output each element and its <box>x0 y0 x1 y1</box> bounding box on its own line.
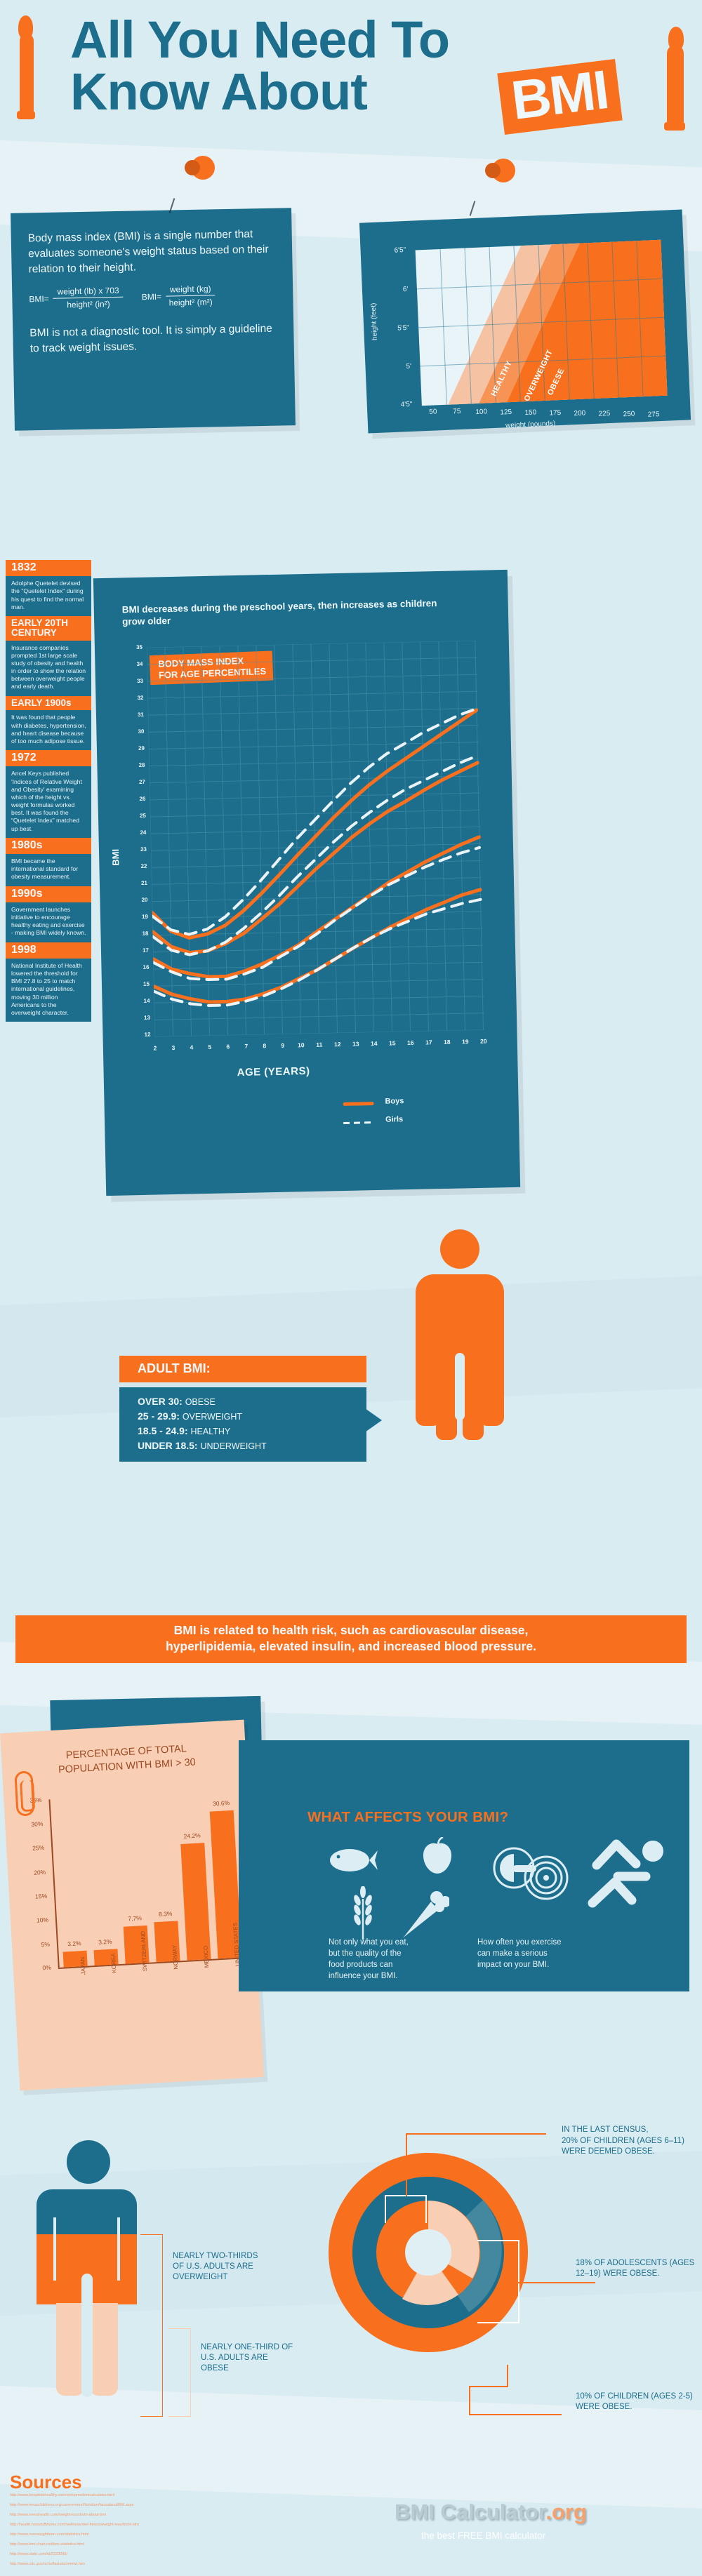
what-affects-title: WHAT AFFECTS YOUR BMI? <box>307 1809 508 1826</box>
adult-chart-xtick-0: 50 <box>429 408 437 415</box>
adult-chart-xtick-6: 200 <box>574 410 585 418</box>
source-link-1[interactable]: http://www.texaschildrens.org/carecenter… <box>10 2502 134 2508</box>
what-affects-text-exercise: How often you exercise can make a seriou… <box>477 1937 567 1970</box>
bar-ytick-10: 10% <box>30 1916 49 1924</box>
timeline-text-4: BMI became the international standard fo… <box>6 854 91 886</box>
percentile-xtick-11: 11 <box>314 1041 324 1048</box>
percentile-ytick-31: 31 <box>131 712 144 718</box>
infographic-page: All You Need To Know About BMI Body mass… <box>0 0 702 2576</box>
leader-adolescents-v <box>518 2240 519 2323</box>
figure-arm-gap-left <box>53 2217 56 2281</box>
formula-imperial-denominator: height² (in²) <box>53 298 124 310</box>
adult-chart-ytick-3: 5' <box>406 363 411 371</box>
figure-arm-gap-right <box>117 2217 120 2281</box>
formula-imperial-numerator: weight (lb) x 703 <box>53 286 123 299</box>
leader-children-6-11-v <box>385 2195 386 2223</box>
percentile-plot-svg <box>147 641 485 1037</box>
adult-chart-xlabel: weight (pounds) <box>505 420 556 429</box>
timeline-text-1: Insurance companies prompted 1st large s… <box>6 641 91 696</box>
leader-children-6-11-v2 <box>425 2195 427 2223</box>
percentile-chart-card: BMI decreases during the preschool years… <box>93 570 520 1196</box>
timeline-year-2: EARLY 1900s <box>6 696 91 711</box>
adult-bmi-chart-card: ADULT BMI CHART HEALTHY OVERWEIGHT <box>359 210 691 434</box>
bar-value-mexico: 24.2% <box>177 1831 206 1840</box>
percentile-ytick-19: 19 <box>135 914 148 920</box>
bar-cat-korea: KOREA <box>110 1953 118 1973</box>
formula-metric: BMI= weight (kg) height² (m²) <box>141 283 216 308</box>
percentile-ytick-33: 33 <box>131 678 143 684</box>
leader-adolescents-h2 <box>477 2322 519 2323</box>
adult-chart-ytick-0: 6'5" <box>394 246 406 255</box>
silhouette-left-body <box>20 34 34 116</box>
percentile-xtick-6: 6 <box>223 1043 233 1050</box>
adult-chart-xtick-4: 150 <box>524 408 536 417</box>
timeline-year-5: 1990s <box>6 886 91 902</box>
bar-ytick-15: 15% <box>29 1893 48 1900</box>
percentile-xtick-19: 19 <box>461 1038 470 1045</box>
source-link-6[interactable]: http://www.slate.com/id/2223095/ <box>10 2551 67 2557</box>
adult-chart-ytick-4: 4'5" <box>401 401 413 409</box>
silhouette-left-feet <box>17 111 35 119</box>
leader-children-2-5-v <box>469 2386 470 2414</box>
bar-chart-title: PERCENTAGE OF TOTAL POPULATION WITH BMI … <box>42 1741 212 1777</box>
sources-heading: Sources <box>10 2471 82 2493</box>
bar-value-korea: 3.2% <box>91 1937 120 1946</box>
percentile-xtick-18: 18 <box>442 1039 452 1046</box>
formula-metric-numerator: weight (kg) <box>166 283 216 296</box>
formula-imperial-fraction: weight (lb) x 703 height² (in²) <box>53 286 124 310</box>
legend-boys-label: Boys <box>385 1097 404 1106</box>
dumbbell-icon <box>491 1838 569 1906</box>
adult-chart-xtick-8: 250 <box>623 411 635 419</box>
bar-ytick-20: 20% <box>27 1869 46 1876</box>
what-affects-text-diet: Not only what you eat, but the quality o… <box>329 1937 418 1982</box>
figure-arm-left <box>37 2234 52 2281</box>
title-block: All You Need To Know About BMI <box>70 15 604 117</box>
figure-arm-right <box>121 2234 137 2281</box>
percentile-xtick-16: 16 <box>406 1039 416 1046</box>
percentile-xtick-15: 15 <box>388 1039 397 1046</box>
percentile-xtick-8: 8 <box>260 1042 270 1049</box>
percentile-ytick-25: 25 <box>133 813 146 819</box>
percentile-xtick-13: 13 <box>351 1040 361 1047</box>
bmi-badge: BMI <box>497 59 622 135</box>
figure-head <box>67 2140 110 2184</box>
leader-children-2-5-out <box>469 2414 562 2415</box>
timeline-item: 1998 National Institute of Health lowere… <box>6 942 91 1022</box>
percentile-ytick-35: 35 <box>130 644 143 650</box>
percentile-ytick-24: 24 <box>133 829 146 836</box>
wheat-icon <box>351 1886 375 1940</box>
adult-chart-xtick-2: 100 <box>475 408 487 416</box>
adult-bmi-row: 25 - 29.9: OVERWEIGHT <box>138 1409 358 1424</box>
bracket-overweight <box>140 2234 163 2417</box>
apple-icon <box>418 1837 457 1876</box>
adult-bmi-range-3: UNDER 18.5: <box>138 1440 198 1451</box>
intro-paragraph-2: BMI is not a diagnostic tool. It is simp… <box>29 321 277 357</box>
silhouette-right-feet <box>664 122 685 131</box>
percentile-ytick-23: 23 <box>134 846 147 853</box>
adult-chart-xtick-7: 225 <box>598 410 610 418</box>
runner-icon <box>587 1833 670 1910</box>
adult-bmi-label-0: OBESE <box>185 1397 216 1407</box>
timeline-item: 1980s BMI became the international stand… <box>6 838 91 886</box>
bar-cat-mexico: MEXICO <box>202 1945 210 1968</box>
callout-pointer <box>358 1403 382 1437</box>
adult-bmi-label-3: UNDERWEIGHT <box>200 1441 266 1451</box>
timeline-year-1: EARLY 20TH CENTURY <box>6 616 91 641</box>
adult-bmi-row: OVER 30: OBESE <box>138 1394 358 1409</box>
source-link-7[interactable]: http://www.cdc.gov/nchs/fastats/overwt.h… <box>10 2561 85 2567</box>
timeline-text-5: Government launches initiative to encour… <box>6 902 91 942</box>
bar-ytick-25: 25% <box>26 1844 45 1852</box>
percentile-ytick-14: 14 <box>137 998 150 1004</box>
percentile-xtick-12: 12 <box>333 1041 343 1048</box>
timeline-year-4: 1980s <box>6 838 91 854</box>
formula-row: BMI= weight (lb) x 703 height² (in²) BMI… <box>29 283 277 311</box>
percentile-plot <box>147 641 485 1037</box>
pin-icon-left <box>191 156 215 180</box>
bar-mexico <box>180 1843 211 1961</box>
bar-cat-japan: JAPAN <box>79 1957 86 1975</box>
bracket-obese <box>168 2328 191 2417</box>
percentile-ytick-30: 30 <box>131 728 144 735</box>
bar-chart-yaxis <box>48 1799 59 1968</box>
adult-chart-xtick-5: 175 <box>549 409 561 418</box>
percentile-ytick-16: 16 <box>136 964 149 970</box>
bar-ytick-0: 0% <box>33 1964 52 1972</box>
timeline-item: 1972 Ancel Keys published 'Indices of Re… <box>6 750 91 838</box>
adult-chart-xtick-3: 125 <box>500 408 512 417</box>
formula-imperial-label: BMI= <box>29 293 49 304</box>
percentile-xtick-2: 2 <box>150 1044 160 1051</box>
leader-children-2-5-v2 <box>507 2365 508 2387</box>
source-link-4[interactable]: http://www.overweightteen.com/statistics… <box>10 2532 89 2537</box>
adult-bmi-heading: ADULT BMI: <box>119 1356 366 1382</box>
adult-chart-ylabel: height (feet) <box>370 302 379 340</box>
percentile-ytick-32: 32 <box>131 695 143 701</box>
adult-bmi-row: UNDER 18.5: UNDERWEIGHT <box>138 1439 358 1453</box>
formula-metric-fraction: weight (kg) height² (m²) <box>166 283 216 307</box>
percentile-headline: BMI decreases during the preschool years… <box>122 598 439 628</box>
timeline: 1832 Adolphe Quetelet devised the "Quete… <box>6 560 91 1022</box>
timeline-item: 1990s Government launches initiative to … <box>6 886 91 942</box>
intro-card: Body mass index (BMI) is a single number… <box>11 208 296 431</box>
silhouette-right-body <box>667 45 684 128</box>
percentile-xtick-9: 9 <box>278 1042 288 1049</box>
percentile-ytick-29: 29 <box>132 745 145 752</box>
adult-chart-xtick-1: 75 <box>453 408 461 415</box>
leader-children-2-5-h <box>469 2386 508 2387</box>
percentile-ytick-12: 12 <box>138 1032 150 1038</box>
footer-logo-brand: BMI Calculator <box>395 2500 545 2524</box>
footer-logo[interactable]: BMI Calculator.org <box>395 2500 587 2525</box>
timeline-item: EARLY 1900s It was found that people wit… <box>6 696 91 750</box>
source-link-5[interactable]: http://www.bmi-chart.net/bmi-statistics.… <box>10 2542 84 2547</box>
leader-children-6-11-top <box>406 2133 546 2135</box>
adult-bmi-label-1: OVERWEIGHT <box>183 1412 242 1422</box>
adult-chart-ytick-2: 5'5" <box>397 324 409 333</box>
donut-chart <box>323 2147 534 2361</box>
timeline-text-6: National Institute of Health lowered the… <box>6 959 91 1022</box>
percentile-ytick-17: 17 <box>136 947 149 954</box>
percentile-xtick-7: 7 <box>241 1043 251 1050</box>
stat-children-6-11-text: 20% OF CHILDREN (AGES 6–11) WERE DEEMED … <box>562 2136 688 2157</box>
percentile-ytick-27: 27 <box>133 779 145 785</box>
paperclip-icon <box>14 1770 34 1816</box>
legend-boys-line <box>343 1102 374 1106</box>
stat-children-2-5-text: 10% OF CHILDREN (AGES 2-5) WERE OBESE. <box>576 2391 699 2413</box>
timeline-text-3: Ancel Keys published 'Indices of Relativ… <box>6 766 91 837</box>
intro-paragraph-1: Body mass index (BMI) is a single number… <box>28 227 276 278</box>
timeline-text-2: It was found that people with diabetes, … <box>6 710 91 750</box>
timeline-text-0: Adolphe Quetelet devised the "Quetelet I… <box>6 576 91 616</box>
percentile-xtick-3: 3 <box>168 1044 178 1051</box>
stat-adolescents-text: 18% OF ADOLESCENTS (AGES 12–19) WERE OBE… <box>576 2258 699 2279</box>
adult-bmi-range-1: 25 - 29.9: <box>138 1410 180 1422</box>
percentile-xlabel: AGE (YEARS) <box>237 1065 310 1079</box>
census-intro-text: IN THE LAST CENSUS, <box>562 2125 688 2135</box>
fish-icon <box>329 1843 378 1877</box>
source-link-3[interactable]: http://health.howstuffworks.com/wellness… <box>10 2522 139 2528</box>
donut-chart-svg <box>323 2147 534 2358</box>
adult-bmi-label-2: HEALTHY <box>191 1427 231 1436</box>
timeline-year-3: 1972 <box>6 750 91 766</box>
percentile-xtick-17: 17 <box>424 1039 434 1046</box>
adult-chart-xtick-9: 275 <box>648 411 660 419</box>
bar-value-switzerland: 7.7% <box>120 1914 150 1923</box>
percentile-ytick-22: 22 <box>134 863 147 869</box>
bar-ytick-5: 5% <box>32 1941 51 1949</box>
figure-leg-gap <box>81 2274 93 2397</box>
leader-children-6-11-up <box>406 2133 407 2196</box>
bar-value-japan: 3.2% <box>60 1940 89 1948</box>
timeline-year-6: 1998 <box>6 942 91 959</box>
percentile-xtick-10: 10 <box>296 1041 306 1048</box>
leader-adolescents-h1 <box>477 2240 519 2241</box>
header: All You Need To Know About BMI <box>0 0 702 168</box>
stat-obese-text: NEARLY ONE-THIRD OF U.S. ADULTS ARE OBES… <box>201 2342 293 2375</box>
risk-banner-line1: BMI is related to health risk, such as c… <box>24 1622 678 1639</box>
formula-imperial: BMI= weight (lb) x 703 height² (in²) <box>29 286 124 311</box>
bar-cat-norway: NORWAY <box>171 1944 179 1969</box>
formula-metric-denominator: height² (m²) <box>166 295 216 307</box>
percentile-xtick-20: 20 <box>479 1038 489 1045</box>
source-link-2[interactable]: http://www.menshealth.com/weight-loss/tr… <box>10 2512 106 2518</box>
percentile-ytick-34: 34 <box>130 661 143 667</box>
timeline-item: 1832 Adolphe Quetelet devised the "Quete… <box>6 560 91 616</box>
percentile-xtick-4: 4 <box>187 1043 197 1050</box>
percentile-ytick-20: 20 <box>135 897 147 903</box>
timeline-item: EARLY 20TH CENTURY Insurance companies p… <box>6 616 91 696</box>
percentile-ytick-26: 26 <box>133 796 145 802</box>
percentile-xtick-14: 14 <box>369 1040 379 1047</box>
adult-chart-plot: HEALTHY OVERWEIGHT OBESE <box>416 240 668 406</box>
percentile-ytick-13: 13 <box>138 1015 150 1021</box>
percentile-ytick-15: 15 <box>137 981 150 987</box>
timeline-year-0: 1832 <box>6 560 91 576</box>
footer-logo-tld: .org <box>545 2500 587 2524</box>
percentile-ylabel: BMI <box>110 849 121 866</box>
carrot-icon <box>397 1888 449 1941</box>
bar-value-united-states: 30.6% <box>206 1799 236 1808</box>
risk-banner-line2: hyperlipidemia, elevated insulin, and in… <box>24 1639 678 1655</box>
source-link-0[interactable]: http://www.keepkidshealthy.com/welcome/b… <box>10 2492 114 2498</box>
percentile-ytick-21: 21 <box>135 880 147 886</box>
adult-bmi-range-2: 18.5 - 24.9: <box>138 1425 188 1436</box>
bar-chart-paper: PERCENTAGE OF TOTAL POPULATION WITH BMI … <box>0 1720 264 2091</box>
adult-chart-ytick-1: 6' <box>403 286 409 293</box>
percentile-ytick-28: 28 <box>132 762 145 768</box>
percentile-xtick-5: 5 <box>205 1043 215 1050</box>
bar-value-norway: 8.3% <box>151 1909 180 1918</box>
footer-tagline: the best FREE BMI calculator <box>421 2530 545 2541</box>
legend-girls-label: Girls <box>385 1115 403 1124</box>
figure-torso-teal <box>37 2189 137 2234</box>
formula-metric-label: BMI= <box>142 291 162 302</box>
adult-bmi-range-0: OVER 30: <box>138 1396 183 1407</box>
bar-ytick-30: 30% <box>25 1820 44 1828</box>
adult-bmi-body: OVER 30: OBESE 25 - 29.9: OVERWEIGHT 18.… <box>119 1387 366 1462</box>
percentile-ytick-18: 18 <box>135 930 148 937</box>
adult-bmi-row: 18.5 - 24.9: HEALTHY <box>138 1424 358 1439</box>
pin-icon-right <box>491 159 515 182</box>
stat-overweight-text: NEARLY TWO-THIRDS OF U.S. ADULTS ARE OVE… <box>173 2251 270 2283</box>
legend-girls-line <box>343 1121 374 1124</box>
leader-adolescents-out <box>518 2282 595 2283</box>
risk-banner: BMI is related to health risk, such as c… <box>15 1615 687 1663</box>
page-title-line1: All You Need To <box>70 15 604 65</box>
